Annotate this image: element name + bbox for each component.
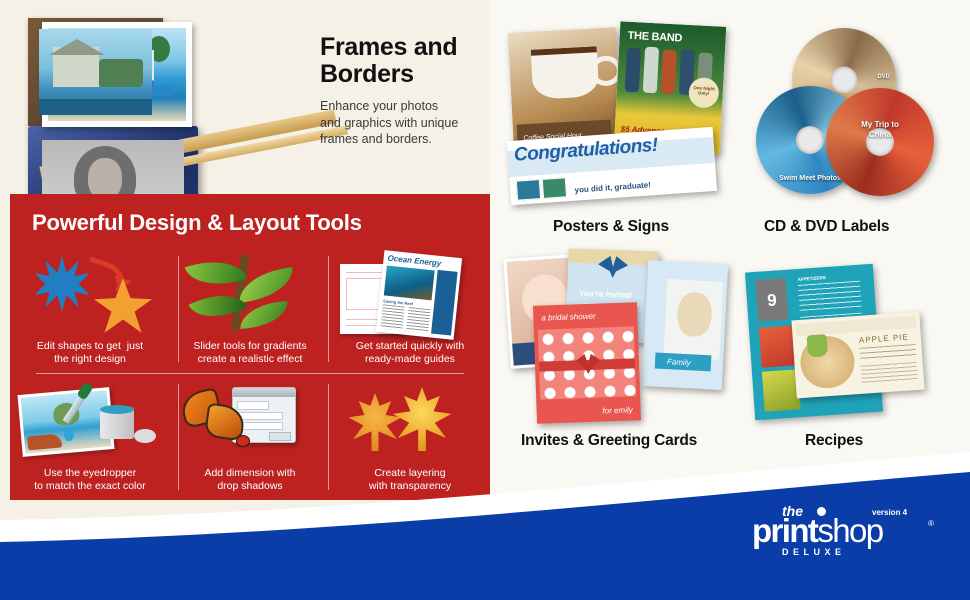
design-tile-caption: Get started quickly with ready-made guid… [356, 340, 465, 365]
design-tile-slider-gradients: Slider tools for gradients create a real… [170, 246, 330, 373]
category-label-recipes: Recipes [805, 432, 863, 450]
grid-divider-vertical-1 [178, 256, 179, 362]
china-trip-disc: My Trip to China [826, 88, 934, 196]
recipe-card-title: APPLE PIE [859, 332, 909, 344]
printshop-product-box-art: Frames and Borders Enhance your photos a… [0, 0, 970, 600]
logo-version-text: version 4 [872, 508, 907, 517]
dvd-logo-label: DVD [877, 74, 890, 80]
china-disc-label-line-1: My Trip to [826, 120, 934, 129]
bridal-shower-title: a bridal shower [541, 312, 596, 323]
logo-deluxe-text: DELUXE [782, 547, 846, 557]
logo-print-text: print [752, 512, 817, 549]
newsletter-guides-icon: Ocean Energy Saving the Reef [336, 250, 484, 340]
blue-starburst-icon [16, 250, 164, 340]
category-label-posters: Posters & Signs [553, 218, 669, 236]
posters-and-signs-artwork: Coffee Social Hour THE BAND One Night On… [505, 22, 725, 207]
china-disc-label-line-2: China [826, 130, 934, 139]
grid-divider-horizontal [36, 373, 464, 374]
logo-registered-icon: ® [928, 519, 934, 528]
design-tile-edit-shapes: Edit shapes to get just the right design [10, 246, 170, 373]
invites-and-cards-artwork: You're Invited Family a bridal shower fo… [505, 248, 727, 428]
recipe-menu-number: 9 [756, 290, 787, 312]
category-label-cd-dvd: CD & DVD Labels [764, 218, 889, 236]
grid-divider-vertical-2 [328, 256, 329, 362]
design-tile-ready-made-guides: Ocean Energy Saving the Reef Get started… [330, 246, 490, 373]
category-label-invites: Invites & Greeting Cards [521, 432, 697, 450]
design-panel-title: Powerful Design & Layout Tools [32, 210, 462, 236]
family-card-label: Family [667, 357, 691, 367]
design-tile-caption: Edit shapes to get just the right design [37, 340, 143, 365]
apple-pie-recipe-card: APPLE PIE [791, 312, 924, 399]
rustic-wood-frame-photo [28, 18, 163, 126]
frames-desc-line-2: and graphics with unique [320, 115, 500, 132]
frames-desc-line-3: frames and borders. [320, 131, 500, 148]
cd-dvd-labels-artwork: DVD Swim Meet Photos My Trip to China [756, 28, 936, 208]
frames-desc-line-1: Enhance your photos [320, 98, 500, 115]
design-tile-caption: Slider tools for gradients create a real… [193, 340, 306, 365]
frames-title-line-2: Borders [320, 61, 495, 88]
graduation-banner: Congratulations! you did it, graduate! [507, 127, 717, 205]
family-photo-card: Family [642, 260, 728, 390]
page-title: Frames and Borders [320, 34, 495, 88]
logo-wordmark: printshop [752, 514, 883, 547]
frames-title-line-1: Frames and [320, 34, 495, 61]
frames-and-borders-artwork [28, 18, 318, 193]
recipes-artwork: 9 APPETIZERS APPLE PIE [742, 262, 932, 427]
logo-shop-text: shop [817, 512, 882, 549]
recipe-menu-heading: APPETIZERS [797, 275, 826, 282]
printshop-logo: the printshop version 4 ® DELUXE [752, 503, 942, 565]
bridal-card-for-label: for emily [602, 405, 633, 415]
invited-card-title: You're Invited [579, 289, 632, 300]
bridal-shower-card: a bridal shower for emily [533, 302, 641, 424]
green-leaf-icon [176, 250, 324, 340]
band-poster-badge: One Night Only! [691, 85, 717, 96]
frames-description: Enhance your photos and graphics with un… [320, 98, 500, 148]
